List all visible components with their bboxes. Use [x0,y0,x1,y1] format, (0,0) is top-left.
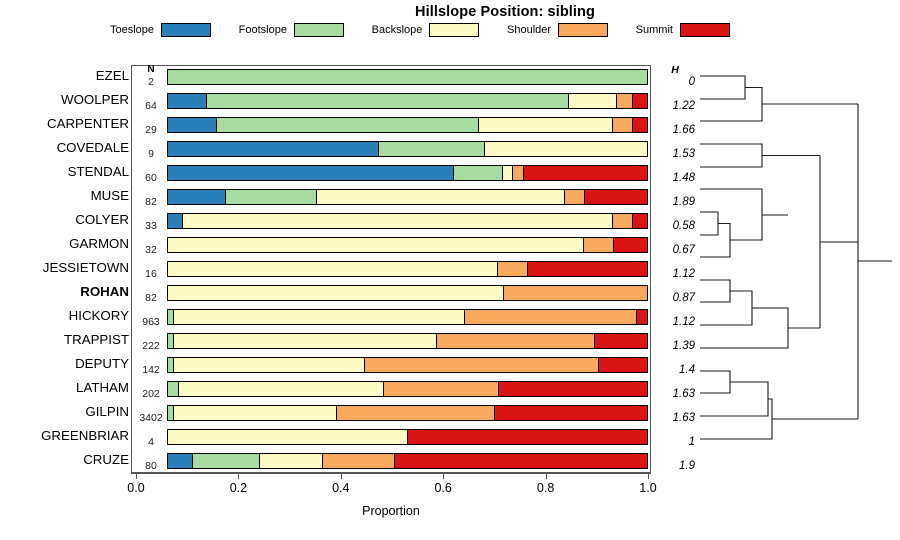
legend-item-footslope[interactable]: Footslope [239,23,344,37]
legend-swatch-shoulder [558,23,608,37]
bar-segment-toeslope[interactable] [168,118,217,132]
row-n-value: 80 [137,460,165,472]
stacked-bar[interactable] [167,261,648,277]
legend-swatch-summit [680,23,730,37]
row-label-greenbriar: GREENBRIAR [0,428,129,443]
stacked-bar[interactable] [167,309,648,325]
row-h-value: 1.39 [655,340,695,352]
bar-segment-summit[interactable] [499,382,647,396]
row-h-value: 1.4 [655,364,695,376]
stacked-bar[interactable] [167,405,648,421]
row-h-value: 1 [655,436,695,448]
bar-segment-backslope[interactable] [183,214,612,228]
row-label-gilpin: GILPIN [0,404,129,419]
row-label-carpenter: CARPENTER [0,116,129,131]
x-axis-line [131,473,651,474]
row-n-value: 64 [137,100,165,112]
row-n-value: 202 [137,388,165,400]
bar-segment-backslope[interactable] [179,382,385,396]
x-axis-tick [546,473,547,479]
row-h-value: 0.58 [655,220,695,232]
row-n-value: 60 [137,172,165,184]
bar-segment-backslope[interactable] [569,94,618,108]
legend: Toeslope Footslope Backslope Shoulder Su… [110,23,730,37]
row-n-value: 32 [137,244,165,256]
bar-segment-shoulder[interactable] [384,382,499,396]
row-label-covedale: COVEDALE [0,140,129,155]
row-h-value: 1.48 [655,172,695,184]
bar-segment-shoulder[interactable] [513,166,524,180]
legend-item-toeslope[interactable]: Toeslope [110,23,211,37]
row-n-value: 4 [137,436,165,448]
row-h-value: 1.12 [655,316,695,328]
row-label-garmon: GARMON [0,236,129,251]
page-title: Hillslope Position: sibling [0,4,900,20]
bar-segment-footslope[interactable] [379,142,485,156]
dendrogram-svg [700,65,895,473]
stacked-bar[interactable] [167,333,648,349]
row-n-value: 3402 [137,412,165,424]
bar-segment-summit[interactable] [633,214,647,228]
stacked-bar[interactable] [167,165,648,181]
stacked-bar[interactable] [167,237,648,253]
legend-item-summit[interactable]: Summit [636,23,730,37]
bar-segment-summit[interactable] [585,190,647,204]
stacked-bar[interactable] [167,285,648,301]
stacked-bar[interactable] [167,429,648,445]
row-h-value: 1.66 [655,124,695,136]
x-axis-title: Proportion [131,504,651,518]
bar-segment-shoulder[interactable] [504,286,647,300]
legend-label-footslope: Footslope [239,24,287,36]
bar-segment-backslope[interactable] [168,262,498,276]
row-label-ezel: EZEL [0,68,129,83]
bar-segment-toeslope[interactable] [168,214,183,228]
bar-segment-summit[interactable] [633,94,647,108]
column-header-h: H [655,64,695,76]
bar-segment-backslope[interactable] [479,118,613,132]
legend-label-toeslope: Toeslope [110,24,154,36]
row-n-value: 82 [137,292,165,304]
legend-item-backslope[interactable]: Backslope [372,23,480,37]
bar-segment-shoulder[interactable] [365,358,599,372]
stacked-bar[interactable] [167,93,648,109]
row-n-value: 222 [137,340,165,352]
stacked-bar[interactable] [167,69,648,85]
row-h-value: 1.22 [655,100,695,112]
legend-swatch-backslope [429,23,479,37]
stacked-bar[interactable] [167,141,648,157]
bar-segment-summit[interactable] [637,310,647,324]
bar-segment-shoulder[interactable] [584,238,614,252]
row-n-value: 33 [137,220,165,232]
row-label-colyer: COLYER [0,212,129,227]
row-label-hickory: HICKORY [0,308,129,323]
row-n-value: 16 [137,268,165,280]
bar-segment-summit[interactable] [599,358,647,372]
x-axis-tick [238,473,239,479]
x-axis-tick [136,473,137,479]
row-n-value: 9 [137,148,165,160]
bar-segment-summit[interactable] [595,334,647,348]
row-n-value: 2 [137,76,165,88]
stacked-bar[interactable] [167,357,648,373]
x-axis-tick [443,473,444,479]
bar-segment-shoulder[interactable] [565,190,585,204]
bar-segment-footslope[interactable] [226,190,317,204]
bar-segment-backslope[interactable] [168,238,584,252]
bar-segment-backslope[interactable] [174,358,365,372]
bar-segment-footslope[interactable] [207,94,569,108]
bar-segment-footslope[interactable] [168,70,647,84]
x-axis-tick-label: 0.0 [111,481,161,495]
legend-label-summit: Summit [636,24,673,36]
bar-segment-backslope[interactable] [168,286,504,300]
row-label-deputy: DEPUTY [0,356,129,371]
x-axis-tick-label: 0.8 [521,481,571,495]
bar-segment-shoulder[interactable] [323,454,395,468]
bar-segment-summit[interactable] [524,166,648,180]
bar-segment-shoulder[interactable] [337,406,495,420]
row-label-jessietown: JESSIETOWN [0,260,129,275]
bar-segment-toeslope[interactable] [168,94,207,108]
row-label-stendal: STENDAL [0,164,129,179]
bar-segment-backslope[interactable] [174,406,337,420]
stacked-bar[interactable] [167,117,648,133]
bar-segment-backslope[interactable] [168,430,408,444]
x-axis-tick-label: 0.2 [213,481,263,495]
legend-label-shoulder: Shoulder [507,24,551,36]
bar-segment-summit[interactable] [395,454,647,468]
stacked-bar[interactable] [167,453,648,469]
row-n-value: 29 [137,124,165,136]
bar-segment-toeslope[interactable] [168,142,379,156]
bar-segment-summit[interactable] [408,430,647,444]
stacked-bar[interactable] [167,213,648,229]
row-h-value: 0 [655,76,695,88]
bar-segment-summit[interactable] [528,262,647,276]
bar-segment-shoulder[interactable] [437,334,595,348]
bar-segment-summit[interactable] [614,238,647,252]
legend-swatch-footslope [294,23,344,37]
column-header-n: N [137,64,165,75]
row-h-value: 1.89 [655,196,695,208]
bar-segment-shoulder[interactable] [465,310,637,324]
bar-segment-backslope[interactable] [174,310,465,324]
row-label-latham: LATHAM [0,380,129,395]
bar-segment-backslope[interactable] [485,142,647,156]
row-h-value: 1.63 [655,412,695,424]
bar-segment-shoulder[interactable] [613,118,633,132]
x-axis-tick-label: 0.4 [316,481,366,495]
x-axis-tick-label: 1.0 [623,481,673,495]
stacked-bar[interactable] [167,381,648,397]
bar-segment-toeslope[interactable] [168,190,226,204]
row-label-rohan: ROHAN [0,284,129,299]
legend-swatch-toeslope [161,23,211,37]
row-n-value: 142 [137,364,165,376]
row-h-value: 1.9 [655,460,695,472]
bar-segment-backslope[interactable] [260,454,323,468]
row-label-cruze: CRUZE [0,452,129,467]
x-axis-tick-label: 0.6 [418,481,468,495]
stacked-bar[interactable] [167,189,648,205]
x-axis-tick [648,473,649,479]
bar-segment-footslope[interactable] [454,166,503,180]
bar-segment-footslope[interactable] [217,118,479,132]
bar-segment-shoulder[interactable] [617,94,632,108]
row-h-value: 1.63 [655,388,695,400]
row-n-value: 963 [137,316,165,328]
row-h-value: 0.87 [655,292,695,304]
bar-segment-summit[interactable] [633,118,647,132]
x-axis-tick [341,473,342,479]
bar-segment-shoulder[interactable] [498,262,528,276]
bar-segment-footslope[interactable] [193,454,261,468]
legend-item-shoulder[interactable]: Shoulder [507,23,608,37]
bar-segment-summit[interactable] [495,406,647,420]
dendrogram [700,65,895,473]
row-h-value: 1.12 [655,268,695,280]
bar-segment-footslope[interactable] [168,382,179,396]
bar-segment-backslope[interactable] [317,190,565,204]
row-label-muse: MUSE [0,188,129,203]
row-label-woolper: WOOLPER [0,92,129,107]
row-h-value: 1.53 [655,148,695,160]
bar-segment-toeslope[interactable] [168,166,454,180]
bar-segment-backslope[interactable] [503,166,514,180]
row-n-value: 82 [137,196,165,208]
legend-label-backslope: Backslope [372,24,423,36]
bar-segment-toeslope[interactable] [168,454,193,468]
bar-segment-shoulder[interactable] [613,214,633,228]
bar-segment-backslope[interactable] [174,334,437,348]
row-h-value: 0.67 [655,244,695,256]
row-label-trappist: TRAPPIST [0,332,129,347]
